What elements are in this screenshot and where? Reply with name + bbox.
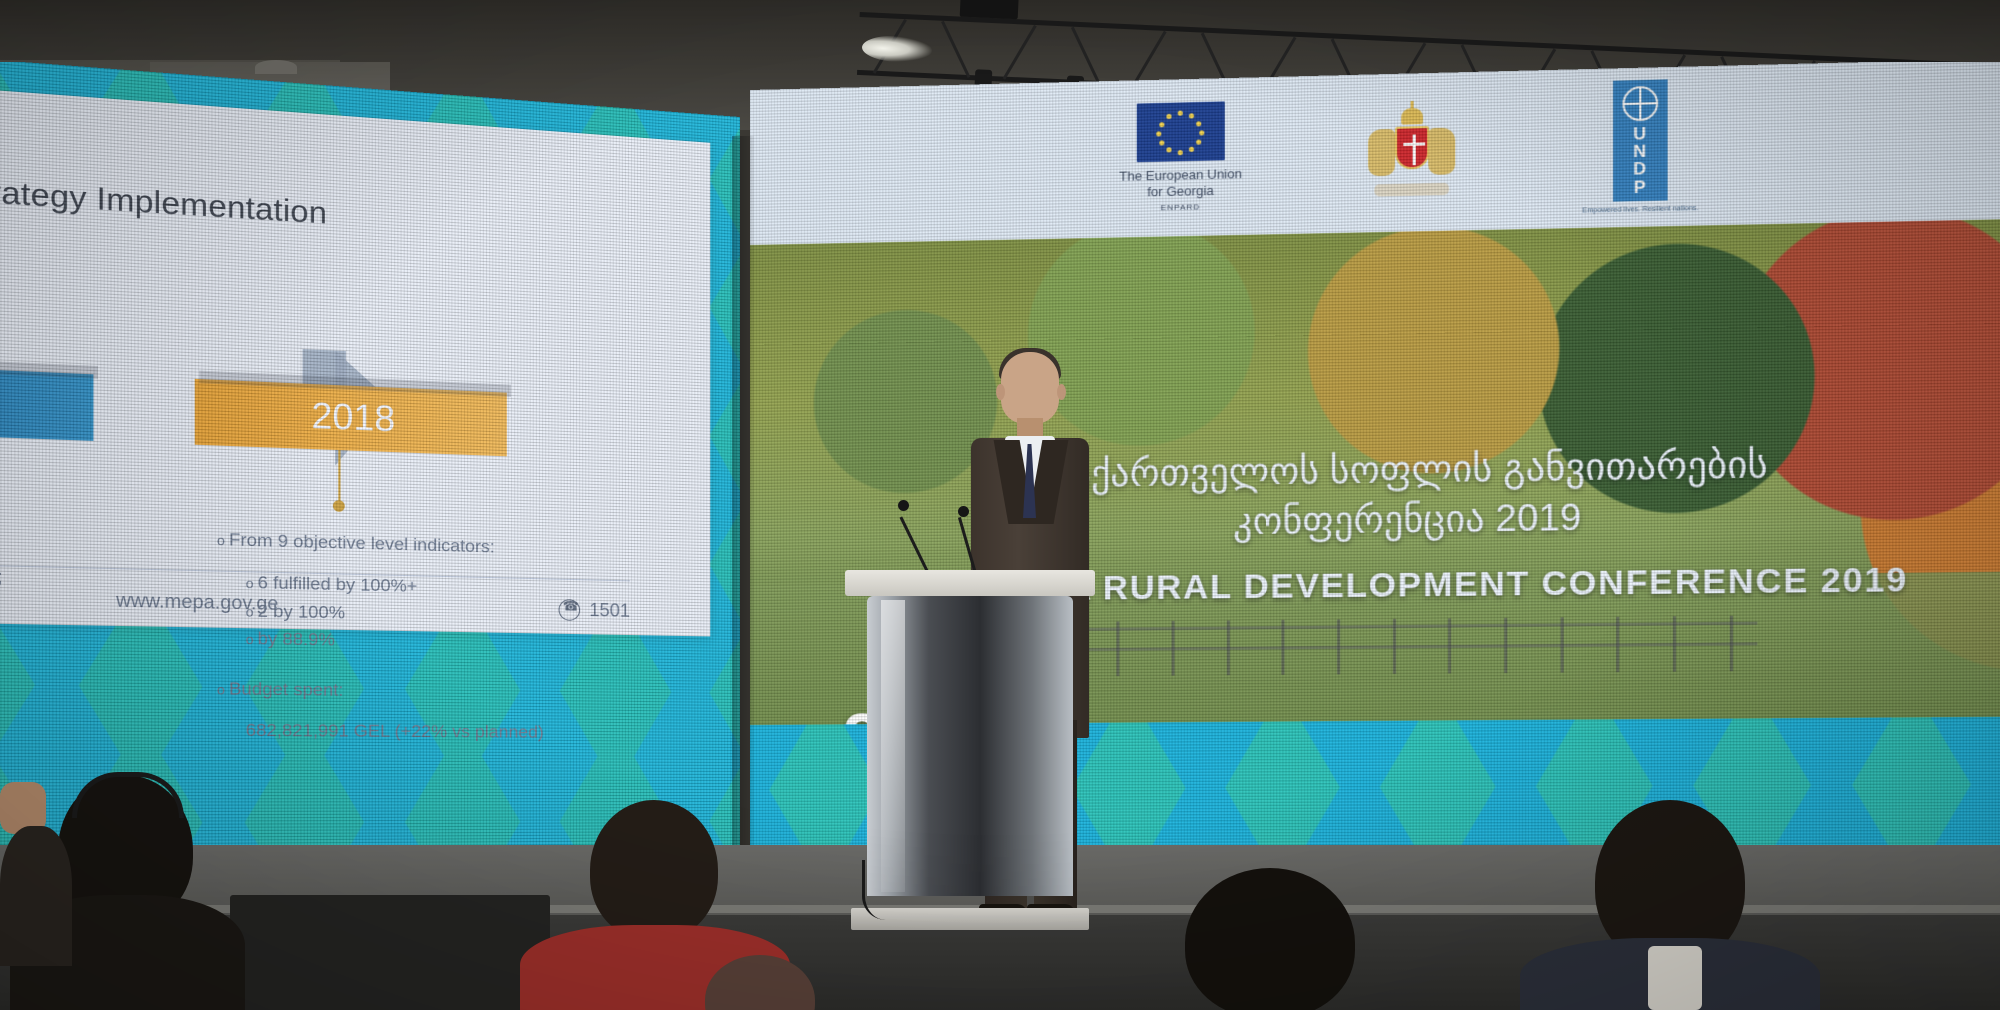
footer-phone: 1501 bbox=[559, 599, 630, 622]
undp-badge: UNDP bbox=[1613, 79, 1668, 202]
microphone-head bbox=[898, 500, 909, 511]
year-badge-2017: 2017 bbox=[0, 359, 93, 441]
audience-member bbox=[590, 800, 718, 940]
presenter-ear bbox=[1057, 384, 1066, 400]
eu-caption-line2: for Georgia bbox=[1119, 182, 1242, 201]
undp-letters: UNDP bbox=[1613, 124, 1668, 196]
audience-member bbox=[1185, 868, 1355, 1010]
screen-seam bbox=[732, 136, 754, 872]
undp-globe-icon bbox=[1622, 86, 1658, 122]
lion-icon bbox=[1368, 128, 1395, 175]
strategy-results-slide: ults of the Strategy Implementation 2017… bbox=[0, 62, 740, 852]
column-2017-budget-value: EL (+38.3% vs planned) bbox=[0, 697, 163, 729]
slide-content-card: ults of the Strategy Implementation 2017… bbox=[0, 79, 710, 637]
eu-flag-icon bbox=[1137, 101, 1225, 162]
logo-header-band: The European Union for Georgia ENPARD bbox=[750, 62, 2000, 245]
presenter-head bbox=[1001, 352, 1059, 424]
column-2017: level indicators: d by 100% or 100%+; d … bbox=[0, 513, 163, 728]
stage-equipment-case bbox=[230, 895, 550, 1010]
column-2018-heading: From 9 objective level indicators: bbox=[217, 526, 660, 565]
slide-title: ults of the Strategy Implementation bbox=[0, 161, 650, 251]
undp-logo: UNDP Empowered lives. Resilient nations. bbox=[1582, 78, 1698, 215]
left-led-screen: ults of the Strategy Implementation 2017… bbox=[0, 62, 740, 852]
truss-equipment-box bbox=[960, 0, 1019, 19]
year-badge-2018-label: 2018 bbox=[311, 396, 395, 441]
european-union-logo: The European Union for Georgia ENPARD bbox=[1119, 101, 1242, 215]
connector-dot-2018 bbox=[333, 500, 345, 512]
column-2017-heading: level indicators: bbox=[0, 513, 163, 552]
column-2018-budget-label: Budget spent: bbox=[217, 676, 660, 708]
shield-icon bbox=[1395, 126, 1429, 170]
undp-tagline: Empowered lives. Resilient nations. bbox=[1582, 204, 1698, 216]
microphone-cable bbox=[862, 860, 908, 920]
audience-member-collar bbox=[1648, 946, 1702, 1010]
column-2018-budget-value: 682,821,991 GEL (+22% vs planned) bbox=[217, 716, 660, 746]
column-2018: From 9 objective level indicators: 6 ful… bbox=[217, 526, 660, 747]
podium-highlight bbox=[881, 600, 905, 892]
lion-icon bbox=[1428, 127, 1455, 175]
year-badge-2018: 2018 bbox=[195, 379, 507, 456]
footer-website[interactable]: www.mepa.gov.ge bbox=[116, 589, 278, 615]
eu-caption-enpard: ENPARD bbox=[1119, 202, 1242, 215]
microphone-head bbox=[958, 506, 969, 517]
eu-caption-line1: The European Union bbox=[1119, 166, 1242, 185]
fence bbox=[1062, 613, 1758, 676]
conference-hall-scene: ults of the Strategy Implementation 2017… bbox=[0, 0, 2000, 1010]
podium-top bbox=[845, 570, 1095, 596]
phone-icon bbox=[559, 599, 581, 621]
audience-member-arm bbox=[0, 826, 72, 966]
eu-logo-caption: The European Union for Georgia ENPARD bbox=[1119, 166, 1242, 215]
footer-phone-number: 1501 bbox=[589, 600, 630, 622]
crown-icon bbox=[1401, 107, 1423, 124]
presenter-ear bbox=[996, 384, 1005, 400]
georgia-coat-of-arms-logo bbox=[1364, 102, 1459, 202]
connector-line-2018 bbox=[338, 450, 340, 504]
ribbon-icon bbox=[1374, 182, 1449, 196]
